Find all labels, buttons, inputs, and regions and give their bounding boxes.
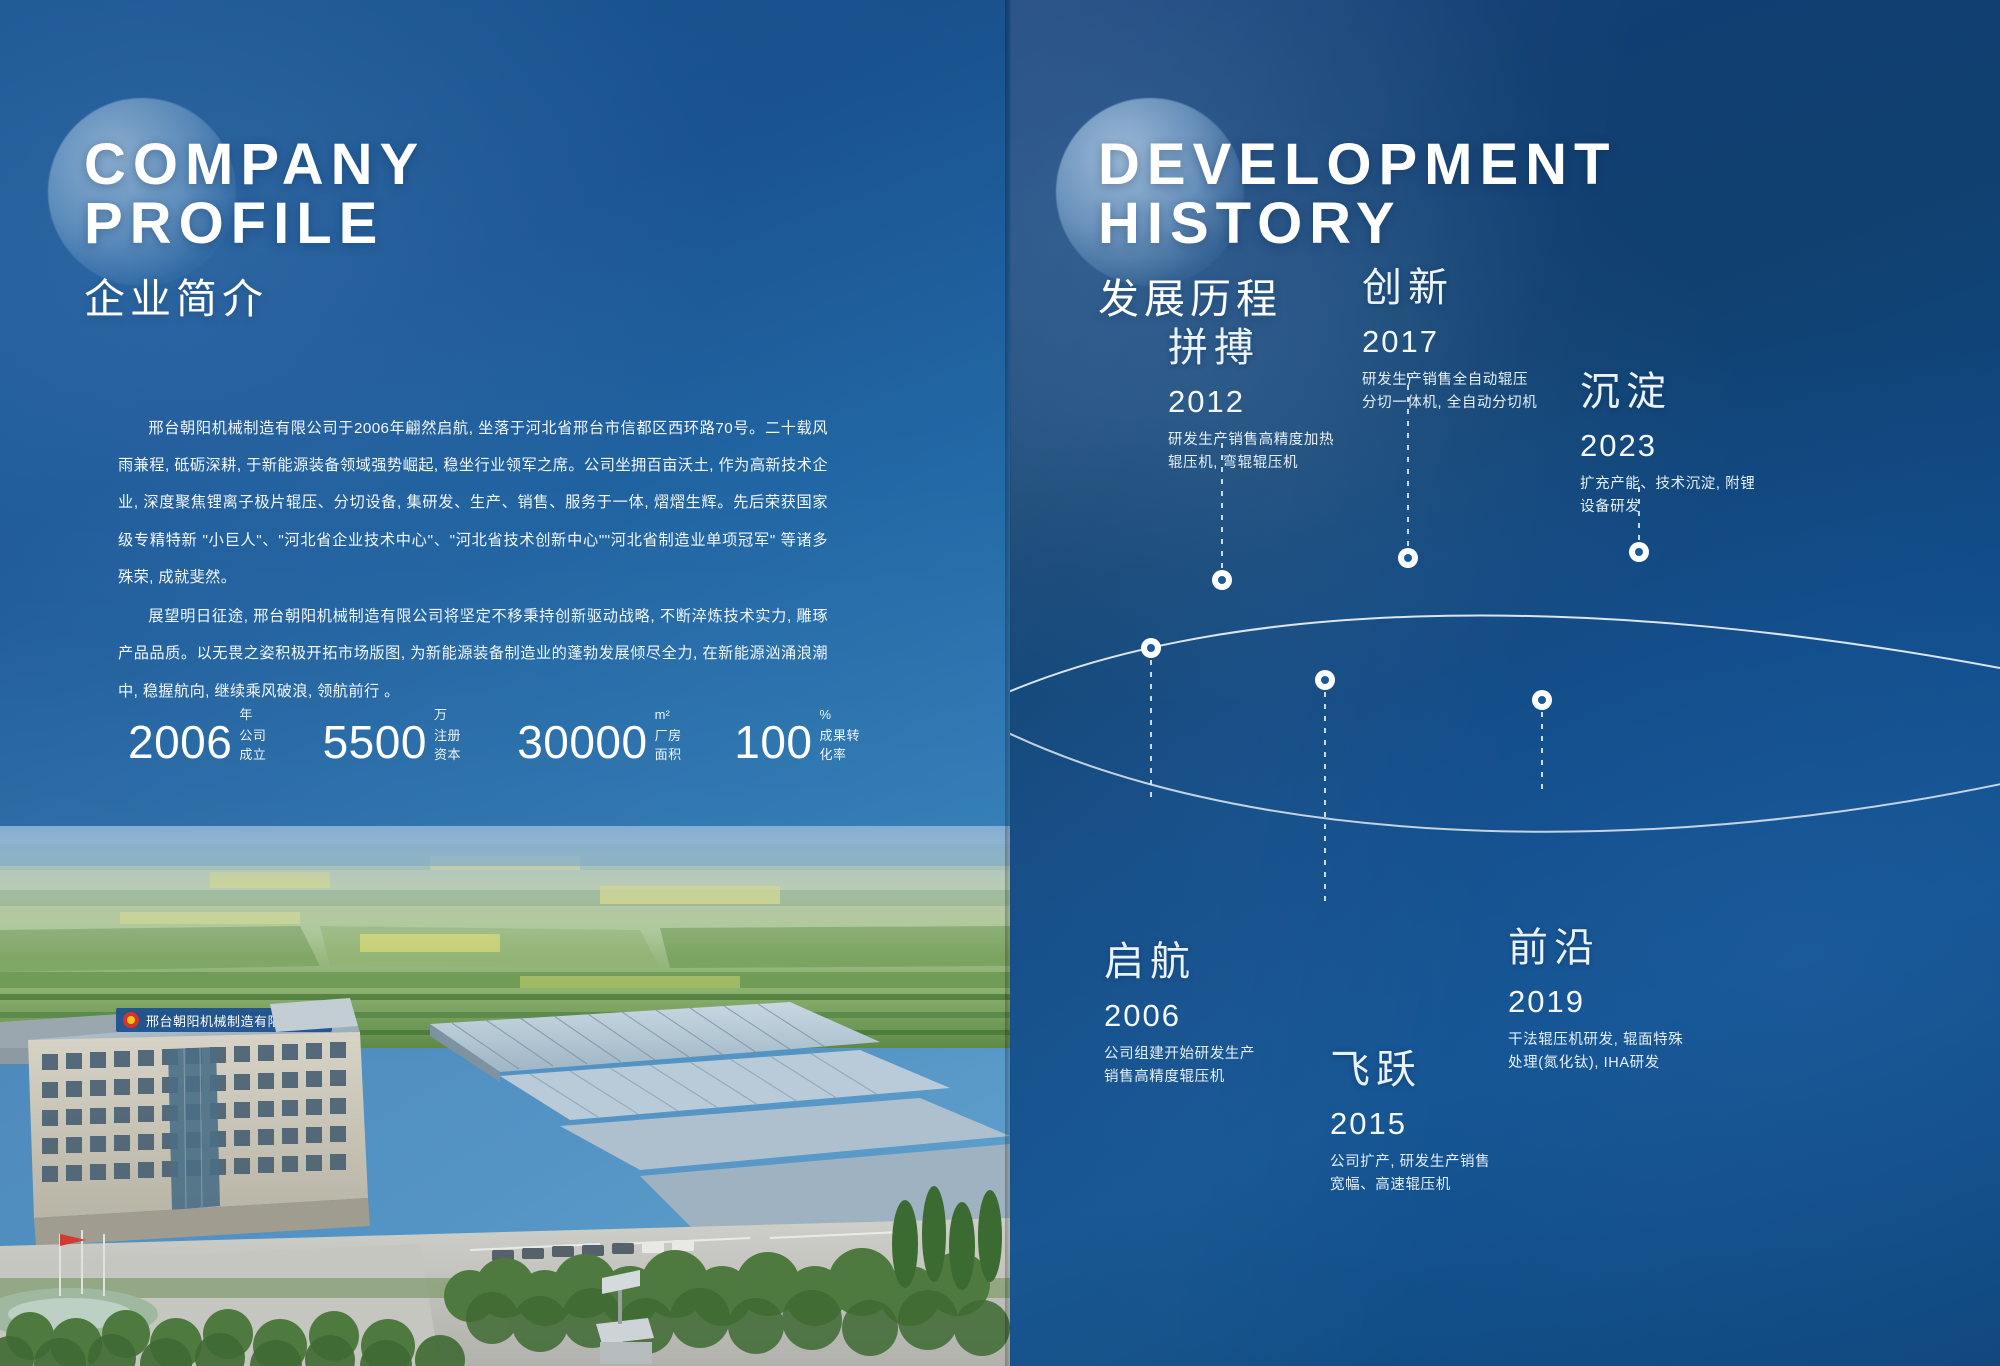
milestone-year: 2017 [1362, 326, 1632, 357]
page-gutter [1005, 0, 1011, 1366]
paragraph-2: 展望明日征途, 邢台朝阳机械制造有限公司将坚定不移秉持创新驱动战略, 不断淬炼技… [118, 598, 828, 710]
timeline-node-2019[interactable] [1532, 690, 1552, 710]
timeline-node-2012[interactable] [1212, 570, 1232, 590]
milestone-description: 公司组建开始研发生产 销售高精度辊压机 [1104, 1043, 1354, 1090]
milestone-description: 干法辊压机研发, 辊面特殊 处理(氮化钛), IHA研发 [1508, 1029, 1768, 1076]
paragraph-1: 邢台朝阳机械制造有限公司于2006年翩然启航, 坐落于河北省邢台市信都区西环路7… [118, 410, 828, 596]
timeline-node-2015[interactable] [1315, 670, 1335, 690]
stat-unit: 万 [434, 708, 465, 722]
stat-label: 注册资本 [434, 725, 465, 763]
milestone-2023[interactable]: 沉淀 2023 扩充产能、技术沉淀, 附锂 设备研发 [1580, 372, 1830, 520]
left-page-company-profile: COMPANY PROFILE 企业简介 邢台朝阳机械制造有限公司于2006年翩… [0, 0, 1010, 1366]
milestone-2006[interactable]: 启航 2006 公司组建开始研发生产 销售高精度辊压机 [1104, 942, 1354, 1090]
milestone-description-line1: 公司扩产, 研发生产销售 [1330, 1151, 1580, 1174]
factory-aerial-photo: 邢台朝阳机械制造有限公司 [0, 826, 1010, 1366]
milestone-title: 沉淀 [1580, 372, 1830, 412]
heading-english-line2: HISTORY [1098, 194, 1617, 253]
stat-unit: m² [655, 708, 683, 722]
stat-label: 公司成立 [239, 725, 270, 763]
stat-value: 2006 [128, 719, 232, 765]
stat-item: 2006 年 公司成立 [128, 708, 271, 765]
timeline-curve-lower [1010, 724, 2000, 832]
milestone-description: 扩充产能、技术沉淀, 附锂 设备研发 [1580, 473, 1830, 520]
stat-value: 5500 [323, 719, 427, 765]
milestone-description-line2: 宽幅、高速辊压机 [1330, 1174, 1580, 1197]
heading-english-line1: COMPANY [84, 132, 425, 197]
heading-chinese: 企业简介 [84, 265, 425, 325]
timeline-curve-upper [1010, 615, 2000, 700]
milestone-year: 2015 [1330, 1108, 1580, 1139]
milestone-description-line2: 销售高精度辊压机 [1104, 1066, 1354, 1089]
stat-unit: % [820, 708, 866, 722]
milestone-description: 研发生产销售高精度加热 辊压机, 弯辊辊压机 [1168, 429, 1418, 476]
company-description: 邢台朝阳机械制造有限公司于2006年翩然启航, 坐落于河北省邢台市信都区西环路7… [118, 410, 828, 710]
stat-value: 100 [734, 719, 812, 765]
heading-english: DEVELOPMENT HISTORY [1098, 135, 1617, 253]
milestone-description-line1: 干法辊压机研发, 辊面特殊 [1508, 1029, 1768, 1052]
timeline-node-2017[interactable] [1398, 548, 1418, 568]
stat-item: 30000 m² 厂房面积 [517, 708, 682, 765]
heading-english: COMPANY PROFILE [84, 135, 425, 253]
stat-value: 30000 [517, 719, 647, 765]
milestone-2019[interactable]: 前沿 2019 干法辊压机研发, 辊面特殊 处理(氮化钛), IHA研发 [1508, 928, 1768, 1076]
brochure-spread: COMPANY PROFILE 企业简介 邢台朝阳机械制造有限公司于2006年翩… [0, 0, 2000, 1366]
timeline-node-2006[interactable] [1141, 638, 1161, 658]
milestone-year: 2023 [1580, 430, 1830, 461]
milestone-description: 公司扩产, 研发生产销售 宽幅、高速辊压机 [1330, 1151, 1580, 1198]
milestone-description-line1: 公司组建开始研发生产 [1104, 1043, 1354, 1066]
stat-item: 5500 万 注册资本 [323, 708, 466, 765]
company-profile-heading: COMPANY PROFILE 企业简介 [84, 135, 425, 325]
heading-english-line2: PROFILE [84, 194, 425, 253]
milestone-description-line2: 处理(氮化钛), IHA研发 [1508, 1052, 1768, 1075]
stat-label: 厂房面积 [655, 725, 683, 763]
milestone-title: 创新 [1362, 268, 1632, 308]
milestone-description-line2: 辊压机, 弯辊辊压机 [1168, 452, 1418, 475]
timeline-node-2023[interactable] [1629, 542, 1649, 562]
stat-unit: 年 [239, 708, 270, 722]
stat-item: 100 % 成果转化率 [734, 708, 866, 765]
milestone-year: 2019 [1508, 986, 1768, 1017]
milestone-description-line1: 扩充产能、技术沉淀, 附锂 [1580, 473, 1830, 496]
heading-english-line1: DEVELOPMENT [1098, 132, 1617, 197]
milestone-title: 启航 [1104, 942, 1354, 982]
milestone-year: 2006 [1104, 1000, 1354, 1031]
stat-label: 成果转化率 [820, 725, 866, 763]
key-stats-row: 2006 年 公司成立 5500 万 注册资本 30000 m² 厂房面积 [128, 708, 918, 765]
milestone-title: 前沿 [1508, 928, 1768, 968]
right-page-development-history: DEVELOPMENT HISTORY 发展历程 [1010, 0, 2000, 1366]
milestone-description-line2: 设备研发 [1580, 496, 1830, 519]
milestone-description-line1: 研发生产销售高精度加热 [1168, 429, 1418, 452]
